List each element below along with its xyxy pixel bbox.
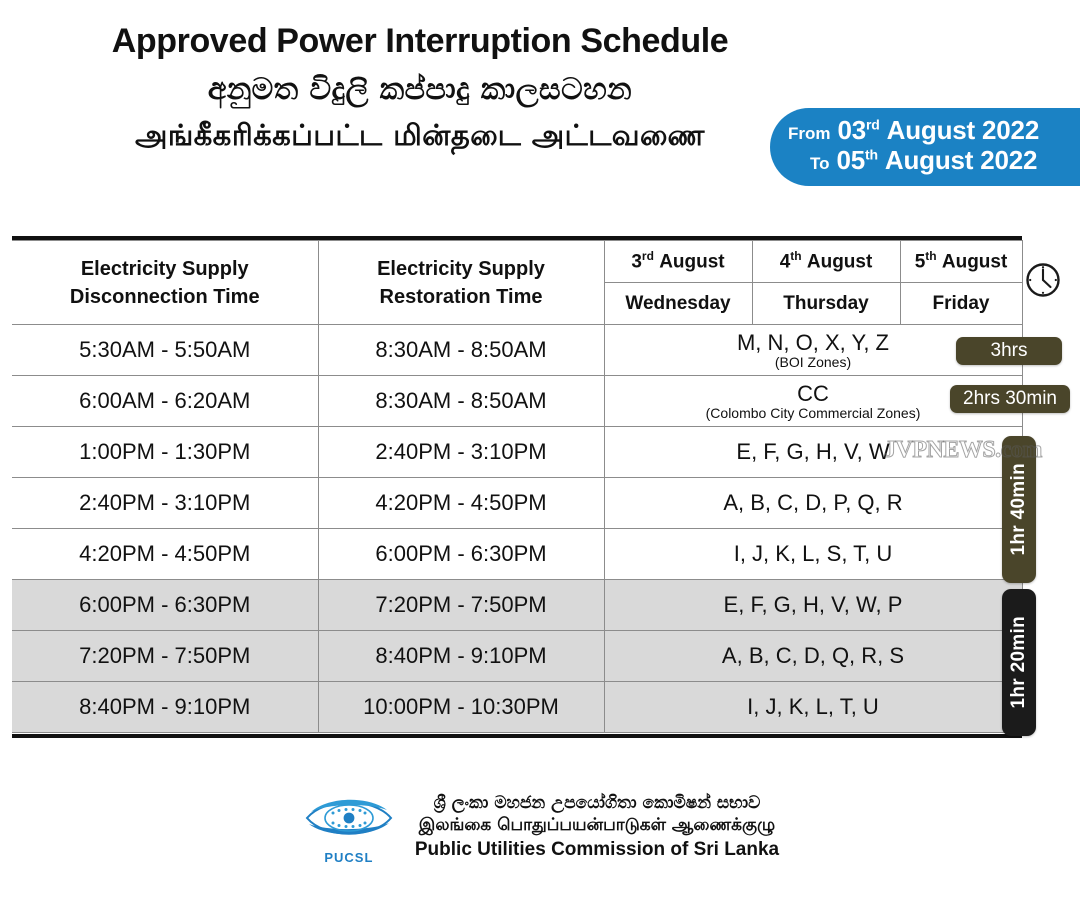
- header-restoration-line2: Restoration Time: [380, 286, 543, 308]
- cell-zones: I, J, K, L, S, T, U: [604, 529, 1022, 580]
- cell-zones: A, B, C, D, P, Q, R: [604, 478, 1022, 529]
- cell-restoration-time: 6:00PM - 6:30PM: [318, 529, 604, 580]
- date-range-to: To 05th August 2022: [788, 145, 1080, 175]
- header-date-2: 5th August: [900, 241, 1022, 283]
- header-date-1-day: 4: [780, 252, 791, 273]
- cell-restoration-time: 2:40PM - 3:10PM: [318, 427, 604, 478]
- footer-name-sinhala: ශ්‍රී ලංකා මහජන උපයෝගිතා කොමිෂන් සභාව: [415, 793, 779, 815]
- cell-zones-letters: CC: [797, 381, 829, 406]
- cell-disconnection-time: 5:30AM - 5:50AM: [12, 325, 318, 376]
- footer-organisation-name: ශ්‍රී ලංකා මහජන උපයෝගිතා කොමිෂන් සභාව இல…: [415, 793, 779, 862]
- date-from-rest: August 2022: [887, 115, 1039, 145]
- header-disconnection-line2: Disconnection Time: [70, 286, 260, 308]
- cell-disconnection-time: 6:00PM - 6:30PM: [12, 580, 318, 631]
- pucsl-logo: PUCSL: [301, 790, 397, 865]
- cell-disconnection-time: 2:40PM - 3:10PM: [12, 478, 318, 529]
- duration-badge-1hr-40min-label: 1hr 40min: [1008, 463, 1030, 555]
- cell-restoration-time: 7:20PM - 7:50PM: [318, 580, 604, 631]
- header-weekday-2: Friday: [900, 283, 1022, 325]
- duration-badge-3hrs: 3hrs: [956, 337, 1062, 365]
- header-date-1-month: August: [807, 252, 872, 273]
- table-row: 7:20PM - 7:50PM 8:40PM - 9:10PM A, B, C,…: [12, 631, 1022, 682]
- cell-restoration-time: 10:00PM - 10:30PM: [318, 682, 604, 733]
- table-header-row-1: Electricity Supply Disconnection Time El…: [12, 241, 1022, 283]
- header-date-2-month: August: [942, 252, 1007, 273]
- duration-badge-1hr-20min-label: 1hr 20min: [1008, 616, 1030, 708]
- date-range-from: From 03rd August 2022: [788, 115, 1080, 145]
- table-row: 6:00PM - 6:30PM 7:20PM - 7:50PM E, F, G,…: [12, 580, 1022, 631]
- cell-disconnection-time: 1:00PM - 1:30PM: [12, 427, 318, 478]
- schedule-table-wrapper: Electricity Supply Disconnection Time El…: [12, 236, 1022, 738]
- table-head: Electricity Supply Disconnection Time El…: [12, 241, 1022, 325]
- pucsl-logo-text: PUCSL: [324, 850, 373, 865]
- date-to-rest: August 2022: [885, 145, 1037, 175]
- table-row: 5:30AM - 5:50AM 8:30AM - 8:50AM M, N, O,…: [12, 325, 1022, 376]
- date-from-label: From: [788, 124, 831, 144]
- duration-badge-1hr-40min: 1hr 40min: [1002, 436, 1036, 583]
- cell-zones-letters: M, N, O, X, Y, Z: [737, 330, 889, 355]
- header-restoration-time: Electricity Supply Restoration Time: [318, 241, 604, 325]
- cell-disconnection-time: 7:20PM - 7:50PM: [12, 631, 318, 682]
- header-date-2-day: 5: [915, 252, 926, 273]
- table-row: 4:20PM - 4:50PM 6:00PM - 6:30PM I, J, K,…: [12, 529, 1022, 580]
- cell-restoration-time: 4:20PM - 4:50PM: [318, 478, 604, 529]
- schedule-table: Electricity Supply Disconnection Time El…: [12, 240, 1022, 733]
- header-date-0-day: 3: [631, 252, 642, 273]
- date-to-suffix: th: [865, 147, 878, 163]
- header-disconnection-line1: Electricity Supply: [81, 258, 249, 280]
- cell-restoration-time: 8:30AM - 8:50AM: [318, 376, 604, 427]
- cell-zones: I, J, K, L, T, U: [604, 682, 1022, 733]
- page-title-sinhala: අනුමත විදුලි කප්පාදු කාලසටහන: [0, 72, 840, 107]
- date-from-value: 03rd August 2022: [838, 115, 1040, 145]
- cell-zones: E, F, G, H, V, W: [604, 427, 1022, 478]
- header-disconnection-time: Electricity Supply Disconnection Time: [12, 241, 318, 325]
- duration-badge-1hr-20min: 1hr 20min: [1002, 589, 1036, 736]
- table-body: 5:30AM - 5:50AM 8:30AM - 8:50AM M, N, O,…: [12, 325, 1022, 733]
- date-to-value: 05th August 2022: [837, 145, 1038, 175]
- header-date-0-month: August: [659, 252, 724, 273]
- cell-zones: E, F, G, H, V, W, P: [604, 580, 1022, 631]
- header-weekday-1: Thursday: [752, 283, 900, 325]
- date-from-day: 03: [838, 115, 867, 145]
- power-interruption-schedule-poster: Approved Power Interruption Schedule අනු…: [0, 0, 1080, 902]
- header-date-1: 4th August: [752, 241, 900, 283]
- date-from-suffix: rd: [866, 116, 880, 132]
- clock-icon: [1023, 287, 1063, 304]
- header-weekday-0: Wednesday: [604, 283, 752, 325]
- page-title-tamil: அங்கீகரிக்கப்பட்ட மின்தடை அட்டவணை: [0, 118, 840, 156]
- header-date-2-suffix: th: [925, 249, 936, 263]
- header-date-1-suffix: th: [790, 249, 801, 263]
- cell-restoration-time: 8:30AM - 8:50AM: [318, 325, 604, 376]
- cell-disconnection-time: 6:00AM - 6:20AM: [12, 376, 318, 427]
- header-date-0-suffix: rd: [642, 249, 654, 263]
- cell-zones: A, B, C, D, Q, R, S: [604, 631, 1022, 682]
- table-row: 2:40PM - 3:10PM 4:20PM - 4:50PM A, B, C,…: [12, 478, 1022, 529]
- cell-restoration-time: 8:40PM - 9:10PM: [318, 631, 604, 682]
- date-to-label: To: [810, 154, 830, 174]
- cell-disconnection-time: 4:20PM - 4:50PM: [12, 529, 318, 580]
- date-to-day: 05: [837, 145, 866, 175]
- cell-disconnection-time: 8:40PM - 9:10PM: [12, 682, 318, 733]
- footer-name-tamil: இலங்கை பொதுப்பயன்பாடுகள் ஆணைக்குழு: [415, 815, 779, 837]
- footer-name-english: Public Utilities Commission of Sri Lanka: [415, 838, 779, 862]
- table-row: 1:00PM - 1:30PM 2:40PM - 3:10PM E, F, G,…: [12, 427, 1022, 478]
- footer: PUCSL ශ්‍රී ලංකා මහජන උපයෝගිතා කොමිෂන් ස…: [0, 790, 1080, 865]
- table-row: 6:00AM - 6:20AM 8:30AM - 8:50AM CC (Colo…: [12, 376, 1022, 427]
- pucsl-logo-icon: [303, 790, 395, 849]
- date-range-badge: From 03rd August 2022 To 05th August 202…: [770, 108, 1080, 186]
- page-title-english: Approved Power Interruption Schedule: [0, 22, 840, 61]
- header-date-0: 3rd August: [604, 241, 752, 283]
- header-restoration-line1: Electricity Supply: [377, 258, 545, 280]
- duration-badge-2hrs-30min: 2hrs 30min: [950, 385, 1070, 413]
- table-row: 8:40PM - 9:10PM 10:00PM - 10:30PM I, J, …: [12, 682, 1022, 733]
